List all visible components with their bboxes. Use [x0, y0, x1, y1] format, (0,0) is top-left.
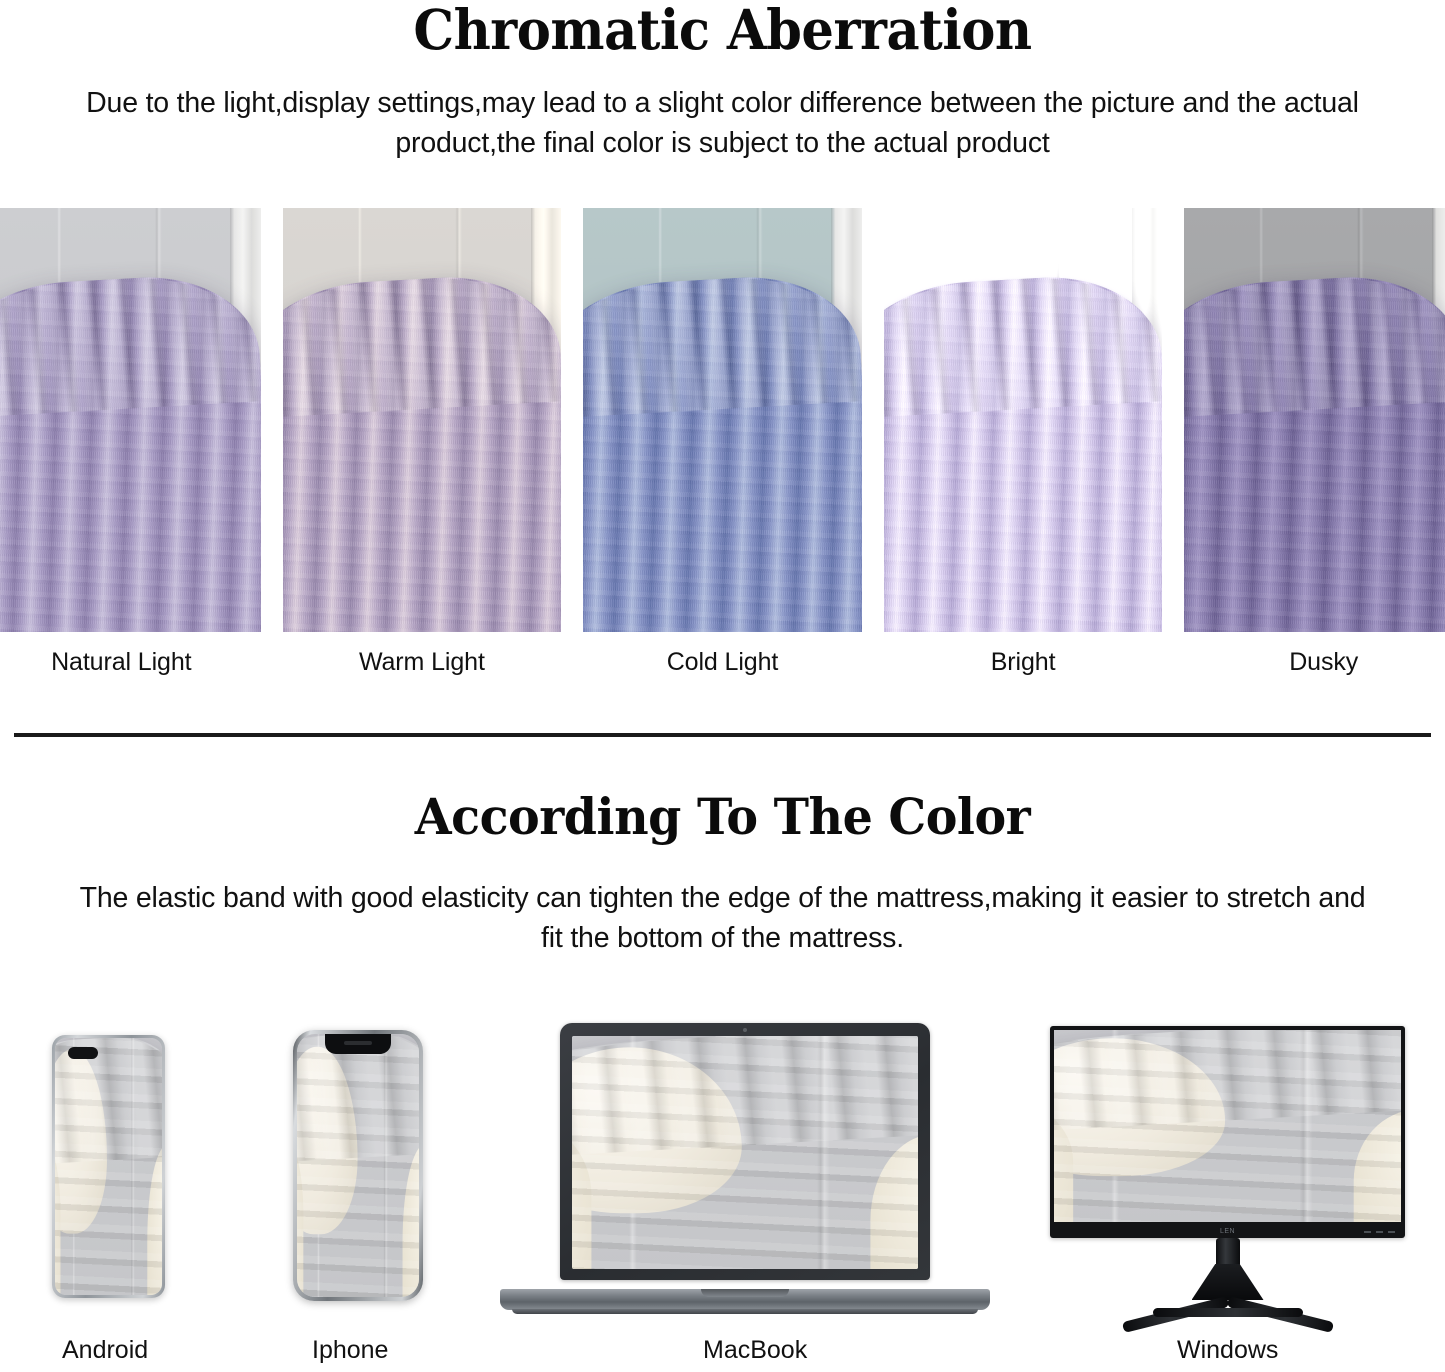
- monitor-brand-logo: LEN: [1220, 1228, 1235, 1235]
- blanket-scene-photo: [884, 208, 1163, 632]
- blanket-scene-photo: [55, 1038, 162, 1295]
- blanket-scene-photo: [0, 208, 261, 632]
- light-panel-warm-light: [283, 208, 562, 632]
- ribbed-fur-throw-blanket: [583, 271, 862, 632]
- light-panel-dusky: [1184, 208, 1445, 632]
- webcam-icon: [743, 1028, 747, 1032]
- device-mockup-android: [52, 1035, 165, 1298]
- device-mockup-iphone: [293, 1030, 423, 1301]
- light-panel-natural-light: [0, 208, 261, 632]
- light-panel-caption-dusky: Dusky: [1184, 648, 1445, 677]
- ribbed-fur-throw-blanket: [297, 1034, 419, 1297]
- monitor-stand-base: [1119, 1284, 1337, 1322]
- blanket-scene-photo: [283, 208, 562, 632]
- page-title-according-to-the-color: According To The Color: [36, 792, 1409, 842]
- front-camera-notch-icon: [325, 1034, 391, 1054]
- blanket-scene-photo: [297, 1034, 419, 1297]
- monitor-screen: [1054, 1030, 1401, 1222]
- device-caption-macbook: MacBook: [703, 1336, 807, 1365]
- light-condition-gallery: [0, 208, 1445, 632]
- page-title-chromatic-aberration: Chromatic Aberration: [51, 0, 1395, 57]
- according-to-the-color-description: The elastic band with good elasticity ca…: [73, 878, 1373, 959]
- light-panel-caption-cold-light: Cold Light: [583, 648, 862, 677]
- device-mockup-macbook: [500, 1023, 990, 1310]
- ribbed-fur-throw-blanket: [572, 1036, 918, 1269]
- chromatic-aberration-description: Due to the light,display settings,may le…: [58, 83, 1388, 164]
- device-caption-iphone: Iphone: [312, 1336, 388, 1365]
- light-panel-cold-light: [583, 208, 862, 632]
- section-divider: [14, 733, 1431, 737]
- macbook-screen-photo: [572, 1036, 918, 1269]
- macbook-lid: [560, 1023, 930, 1280]
- device-preview-gallery: LEN: [0, 1010, 1445, 1310]
- light-panel-caption-warm-light: Warm Light: [283, 648, 562, 677]
- ribbed-fur-throw-blanket: [283, 271, 562, 632]
- monitor-osd-button[interactable]: [1376, 1231, 1383, 1233]
- iphone-screen-photo: [297, 1034, 419, 1297]
- device-captions: Android Iphone MacBook Windows: [0, 1336, 1445, 1372]
- macbook-front-edge: [512, 1309, 978, 1314]
- light-condition-captions: Natural Light Warm Light Cold Light Brig…: [0, 648, 1445, 677]
- ribbed-fur-throw-blanket: [0, 271, 261, 632]
- device-caption-android: Android: [62, 1336, 148, 1365]
- device-mockup-windows-monitor: LEN: [1050, 1026, 1405, 1316]
- light-panel-caption-natural-light: Natural Light: [0, 648, 261, 677]
- monitor-bezel: LEN: [1050, 1026, 1405, 1238]
- blanket-scene-photo: [572, 1036, 918, 1269]
- monitor-screen-photo: [1054, 1030, 1401, 1222]
- light-panel-bright: [884, 208, 1163, 632]
- light-panel-caption-bright: Bright: [884, 648, 1163, 677]
- ribbed-fur-throw-blanket: [55, 1038, 162, 1295]
- macbook-base: [500, 1289, 990, 1310]
- monitor-osd-button[interactable]: [1388, 1231, 1395, 1233]
- android-screen-photo: [55, 1038, 162, 1295]
- front-camera-punch-hole-icon: [68, 1047, 98, 1059]
- blanket-scene-photo: [583, 208, 862, 632]
- ribbed-fur-throw-blanket: [884, 271, 1163, 632]
- ribbed-fur-throw-blanket: [1184, 271, 1445, 632]
- monitor-osd-buttons[interactable]: [1364, 1231, 1395, 1233]
- android-screen: [55, 1038, 162, 1295]
- macbook-screen: [572, 1036, 918, 1269]
- macbook-hinge-notch: [701, 1289, 789, 1297]
- blanket-scene-photo: [1184, 208, 1445, 632]
- blanket-scene-photo: [1054, 1030, 1401, 1222]
- iphone-screen: [297, 1034, 419, 1297]
- device-caption-windows: Windows: [1177, 1336, 1278, 1365]
- monitor-osd-button[interactable]: [1364, 1231, 1371, 1233]
- monitor-stand-leg: [1153, 1308, 1303, 1317]
- ribbed-fur-throw-blanket: [1054, 1030, 1401, 1222]
